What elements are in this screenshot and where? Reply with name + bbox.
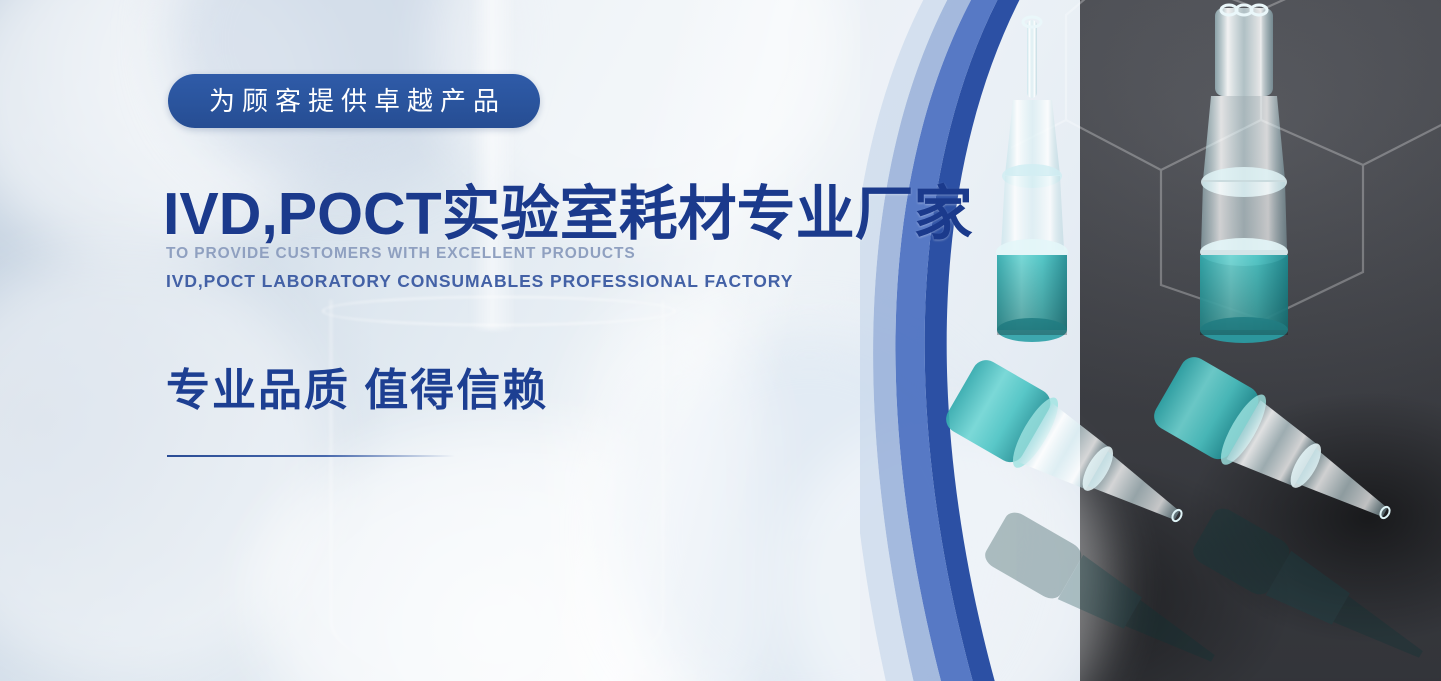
subtitle-line-2: IVD,POCT LABORATORY CONSUMABLES PROFESSI…	[166, 271, 793, 292]
tagline: 专业品质 值得信赖	[166, 367, 548, 415]
badge-label: 为顾客提供卓越产品	[202, 88, 506, 114]
tagline-underline-rule	[167, 455, 455, 457]
promo-banner: 为顾客提供卓越产品 IVD,POCT实验室耗材专业厂家 TO PROVIDE C…	[0, 0, 1441, 681]
pipette-tip-icon	[1149, 352, 1409, 548]
banner-text-block: 为顾客提供卓越产品 IVD,POCT实验室耗材专业厂家 TO PROVIDE C…	[0, 0, 1080, 681]
subtitle-line-1: TO PROVIDE CUSTOMERS WITH EXCELLENT PROD…	[166, 245, 636, 263]
pipette-tip-icon	[1200, 5, 1288, 343]
page-title: IVD,POCT实验室耗材专业厂家	[163, 183, 973, 247]
badge-pill: 为顾客提供卓越产品	[168, 74, 540, 128]
